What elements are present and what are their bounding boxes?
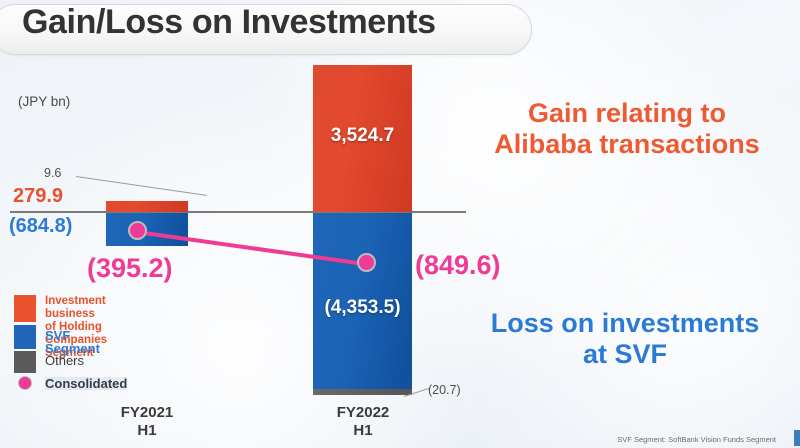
footnote: SVF Segment: SoftBank Vision Funds Segme… xyxy=(617,435,776,444)
page-title: Gain/Loss on Investments xyxy=(22,3,436,42)
value-fy2022-holding: 3,524.7 xyxy=(313,125,412,147)
legend-item-others[interactable]: Others xyxy=(14,351,84,373)
bar-fy2021-holding xyxy=(106,201,188,212)
value-fy2021-consolidated: (395.2) xyxy=(87,253,173,284)
value-fy2022-svf: (4,353.5) xyxy=(313,297,412,319)
category-fy2021-line1: FY2021 xyxy=(87,404,207,422)
value-fy2021-svf: (684.8) xyxy=(9,215,72,238)
slide-canvas: Gain/Loss on Investments (JPY bn) 9.6 27… xyxy=(0,0,800,448)
unit-label: (JPY bn) xyxy=(18,94,70,109)
value-fy2021-holding: 279.9 xyxy=(13,185,63,208)
category-fy2022-line2: H1 xyxy=(303,422,423,440)
legend-swatch-svf-icon xyxy=(14,325,36,349)
bar-fy2021-svf xyxy=(106,213,188,246)
legend-swatch-others-icon xyxy=(14,351,36,373)
annotation-gain: Gain relating to Alibaba transactions xyxy=(462,98,792,160)
category-label-fy2021: FY2021 H1 xyxy=(87,404,207,440)
bar-fy2022-others xyxy=(313,389,412,395)
value-fy2021-others: 9.6 xyxy=(44,166,61,180)
legend-label-consolidated: Consolidated xyxy=(45,377,127,390)
page-corner-marker xyxy=(794,430,800,446)
category-fy2021-line2: H1 xyxy=(87,422,207,440)
bar-fy2022-svf: (4,353.5) xyxy=(313,213,412,389)
legend-swatch-consolidated-icon xyxy=(14,376,36,390)
value-fy2022-consolidated: (849.6) xyxy=(415,250,501,281)
consolidated-marker-fy2021 xyxy=(128,221,147,240)
consolidated-marker-fy2022 xyxy=(357,253,376,272)
category-label-fy2022: FY2022 H1 xyxy=(303,404,423,440)
annotation-loss: Loss on investments at SVF xyxy=(452,308,798,370)
legend-swatch-holding-icon xyxy=(14,295,36,322)
legend-item-consolidated[interactable]: Consolidated xyxy=(14,376,127,390)
leader-line-fy2021-others xyxy=(76,176,207,196)
category-fy2022-line1: FY2022 xyxy=(303,404,423,422)
bar-fy2022-holding: 3,524.7 xyxy=(313,65,412,212)
value-fy2022-others: (20.7) xyxy=(428,383,461,397)
legend-label-others: Others xyxy=(45,351,84,367)
